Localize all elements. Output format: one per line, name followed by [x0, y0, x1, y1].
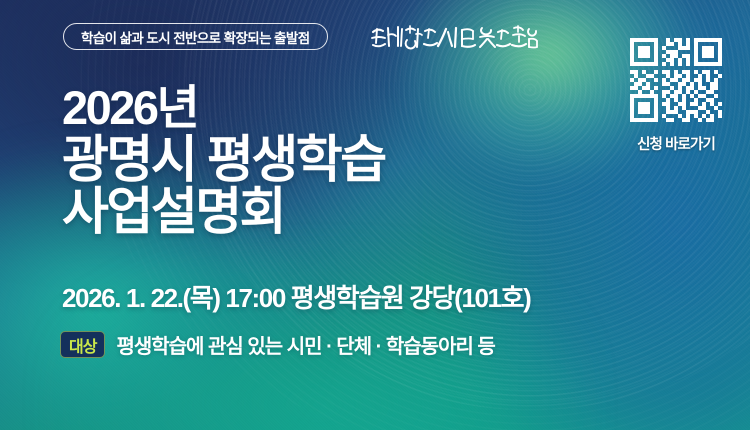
headline-line-2: 광명시 평생학습 — [62, 134, 385, 186]
page-title: 2026년 광명시 평생학습 사업설명회 — [62, 82, 385, 238]
qr-caption-apply-link[interactable]: 신청 바로가기 — [637, 133, 715, 154]
qr-apply-block[interactable]: 신청 바로가기 — [624, 38, 728, 154]
qr-code-icon[interactable] — [630, 38, 722, 122]
audience-description: 평생학습에 관심 있는 시민 · 단체 · 학습동아리 등 — [116, 330, 494, 359]
audience-badge: 대상 — [60, 331, 105, 358]
city-slogan-logo — [368, 20, 538, 56]
headline-line-3: 사업설명회 — [62, 186, 385, 238]
headline-line-1: 2026년 — [62, 82, 385, 134]
event-datetime-venue: 2026. 1. 22.(목) 17:00 평생학습원 강당(101호) — [62, 278, 530, 315]
event-promo-banner: 학습이 삶과 도시 전반으로 확장되는 출발점 — [0, 0, 750, 430]
city-slogan-calligraphy-icon — [368, 20, 538, 56]
tagline-pill: 학습이 삶과 도시 전반으로 확장되는 출발점 — [63, 23, 328, 50]
audience-row: 대상 평생학습에 관심 있는 시민 · 단체 · 학습동아리 등 — [60, 330, 495, 359]
banner-content: 학습이 삶과 도시 전반으로 확장되는 출발점 — [0, 0, 750, 430]
